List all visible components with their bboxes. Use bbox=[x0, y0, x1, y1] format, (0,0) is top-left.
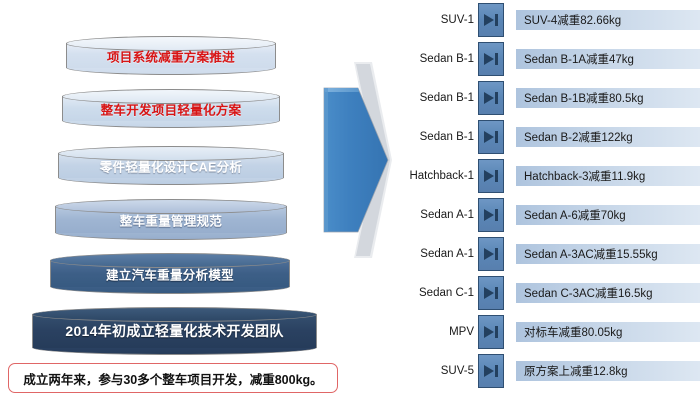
result-text: Hatchback-3减重11.9kg bbox=[516, 168, 645, 184]
result-text: Sedan A-3AC减重15.55kg bbox=[516, 246, 658, 262]
process-step-4-label: 整车重量管理规范 bbox=[55, 210, 287, 229]
result-bar: Hatchback-3减重11.9kg bbox=[516, 166, 700, 186]
vehicle-label: Sedan A-1 bbox=[400, 248, 478, 260]
process-step-2[interactable]: 整车开发项目轻量化方案 bbox=[62, 89, 280, 128]
process-stack: 项目系统减重方案推进 整车开发项目轻量化方案 零件轻量化设计CAE分析 整车重量… bbox=[0, 0, 320, 360]
process-step-3[interactable]: 零件轻量化设计CAE分析 bbox=[58, 146, 284, 185]
result-bar: Sedan C-3AC减重16.5kg bbox=[516, 283, 700, 303]
next-track-icon[interactable] bbox=[478, 354, 504, 388]
vehicle-label: SUV-5 bbox=[400, 365, 478, 377]
process-step-5[interactable]: 建立汽车重量分析模型 bbox=[50, 253, 290, 294]
process-step-6-label: 2014年初成立轻量化技术开发团队 bbox=[32, 321, 317, 341]
process-step-5-label: 建立汽车重量分析模型 bbox=[50, 264, 290, 283]
next-track-icon[interactable] bbox=[478, 198, 504, 232]
results-list: SUV-1 SUV-4减重82.66kg Sedan B-1 Sedan B-1… bbox=[400, 0, 700, 400]
result-row[interactable]: Sedan B-1 Sedan B-1A减重47kg bbox=[400, 39, 700, 78]
summary-callout: 成立两年来，参与30多个整车项目开发，减重800kg。 bbox=[8, 363, 338, 393]
result-row[interactable]: Sedan C-1 Sedan C-3AC减重16.5kg bbox=[400, 273, 700, 312]
next-track-icon[interactable] bbox=[478, 237, 504, 271]
result-row[interactable]: MPV 对标车减重80.05kg bbox=[400, 312, 700, 351]
result-row[interactable]: SUV-1 SUV-4减重82.66kg bbox=[400, 0, 700, 39]
result-text: SUV-4减重82.66kg bbox=[516, 12, 621, 28]
right-chevron-arrow-glyph bbox=[318, 62, 396, 258]
result-text: Sedan B-1A减重47kg bbox=[516, 51, 634, 67]
vehicle-label: SUV-1 bbox=[400, 14, 478, 26]
process-step-2-label: 整车开发项目轻量化方案 bbox=[62, 99, 280, 118]
vehicle-label: Sedan B-1 bbox=[400, 92, 478, 104]
vehicle-label: Sedan B-1 bbox=[400, 131, 478, 143]
next-track-icon[interactable] bbox=[478, 315, 504, 349]
result-bar: Sedan B-1B减重80.5kg bbox=[516, 88, 700, 108]
result-row[interactable]: Sedan B-1 Sedan B-2减重122kg bbox=[400, 117, 700, 156]
summary-callout-text: 成立两年来，参与30多个整车项目开发，减重800kg。 bbox=[23, 369, 322, 388]
vehicle-label: Sedan C-1 bbox=[400, 287, 478, 299]
process-step-1[interactable]: 项目系统减重方案推进 bbox=[66, 36, 276, 75]
result-text: Sedan B-1B减重80.5kg bbox=[516, 90, 644, 106]
next-track-icon[interactable] bbox=[478, 120, 504, 154]
result-text: Sedan B-2减重122kg bbox=[516, 129, 633, 145]
result-text: 原方案上减重12.8kg bbox=[516, 363, 628, 379]
next-track-icon[interactable] bbox=[478, 3, 504, 37]
next-track-icon[interactable] bbox=[478, 42, 504, 76]
vehicle-label: Hatchback-1 bbox=[400, 170, 478, 182]
next-track-icon[interactable] bbox=[478, 159, 504, 193]
vehicle-label: Sedan B-1 bbox=[400, 53, 478, 65]
process-step-4[interactable]: 整车重量管理规范 bbox=[55, 199, 287, 240]
result-row[interactable]: Sedan B-1 Sedan B-1B减重80.5kg bbox=[400, 78, 700, 117]
result-bar: SUV-4减重82.66kg bbox=[516, 10, 700, 30]
result-bar: Sedan B-2减重122kg bbox=[516, 127, 700, 147]
result-text: Sedan C-3AC减重16.5kg bbox=[516, 285, 652, 301]
right-chevron-arrow bbox=[318, 62, 396, 258]
vehicle-label: Sedan A-1 bbox=[400, 209, 478, 221]
result-row[interactable]: Hatchback-1 Hatchback-3减重11.9kg bbox=[400, 156, 700, 195]
result-bar: Sedan B-1A减重47kg bbox=[516, 49, 700, 69]
result-bar: 原方案上减重12.8kg bbox=[516, 361, 700, 381]
result-text: 对标车减重80.05kg bbox=[516, 324, 622, 340]
vehicle-label: MPV bbox=[400, 326, 478, 338]
result-row[interactable]: Sedan A-1 Sedan A-6减重70kg bbox=[400, 195, 700, 234]
result-bar: 对标车减重80.05kg bbox=[516, 322, 700, 342]
next-track-icon[interactable] bbox=[478, 276, 504, 310]
result-text: Sedan A-6减重70kg bbox=[516, 207, 626, 223]
process-step-6[interactable]: 2014年初成立轻量化技术开发团队 bbox=[32, 307, 317, 355]
cylinder-top bbox=[32, 307, 317, 322]
next-track-icon[interactable] bbox=[478, 81, 504, 115]
result-bar: Sedan A-3AC减重15.55kg bbox=[516, 244, 700, 264]
result-row[interactable]: SUV-5 原方案上减重12.8kg bbox=[400, 351, 700, 390]
result-row[interactable]: Sedan A-1 Sedan A-3AC减重15.55kg bbox=[400, 234, 700, 273]
process-step-3-label: 零件轻量化设计CAE分析 bbox=[58, 156, 284, 175]
process-step-1-label: 项目系统减重方案推进 bbox=[66, 46, 276, 65]
result-bar: Sedan A-6减重70kg bbox=[516, 205, 700, 225]
